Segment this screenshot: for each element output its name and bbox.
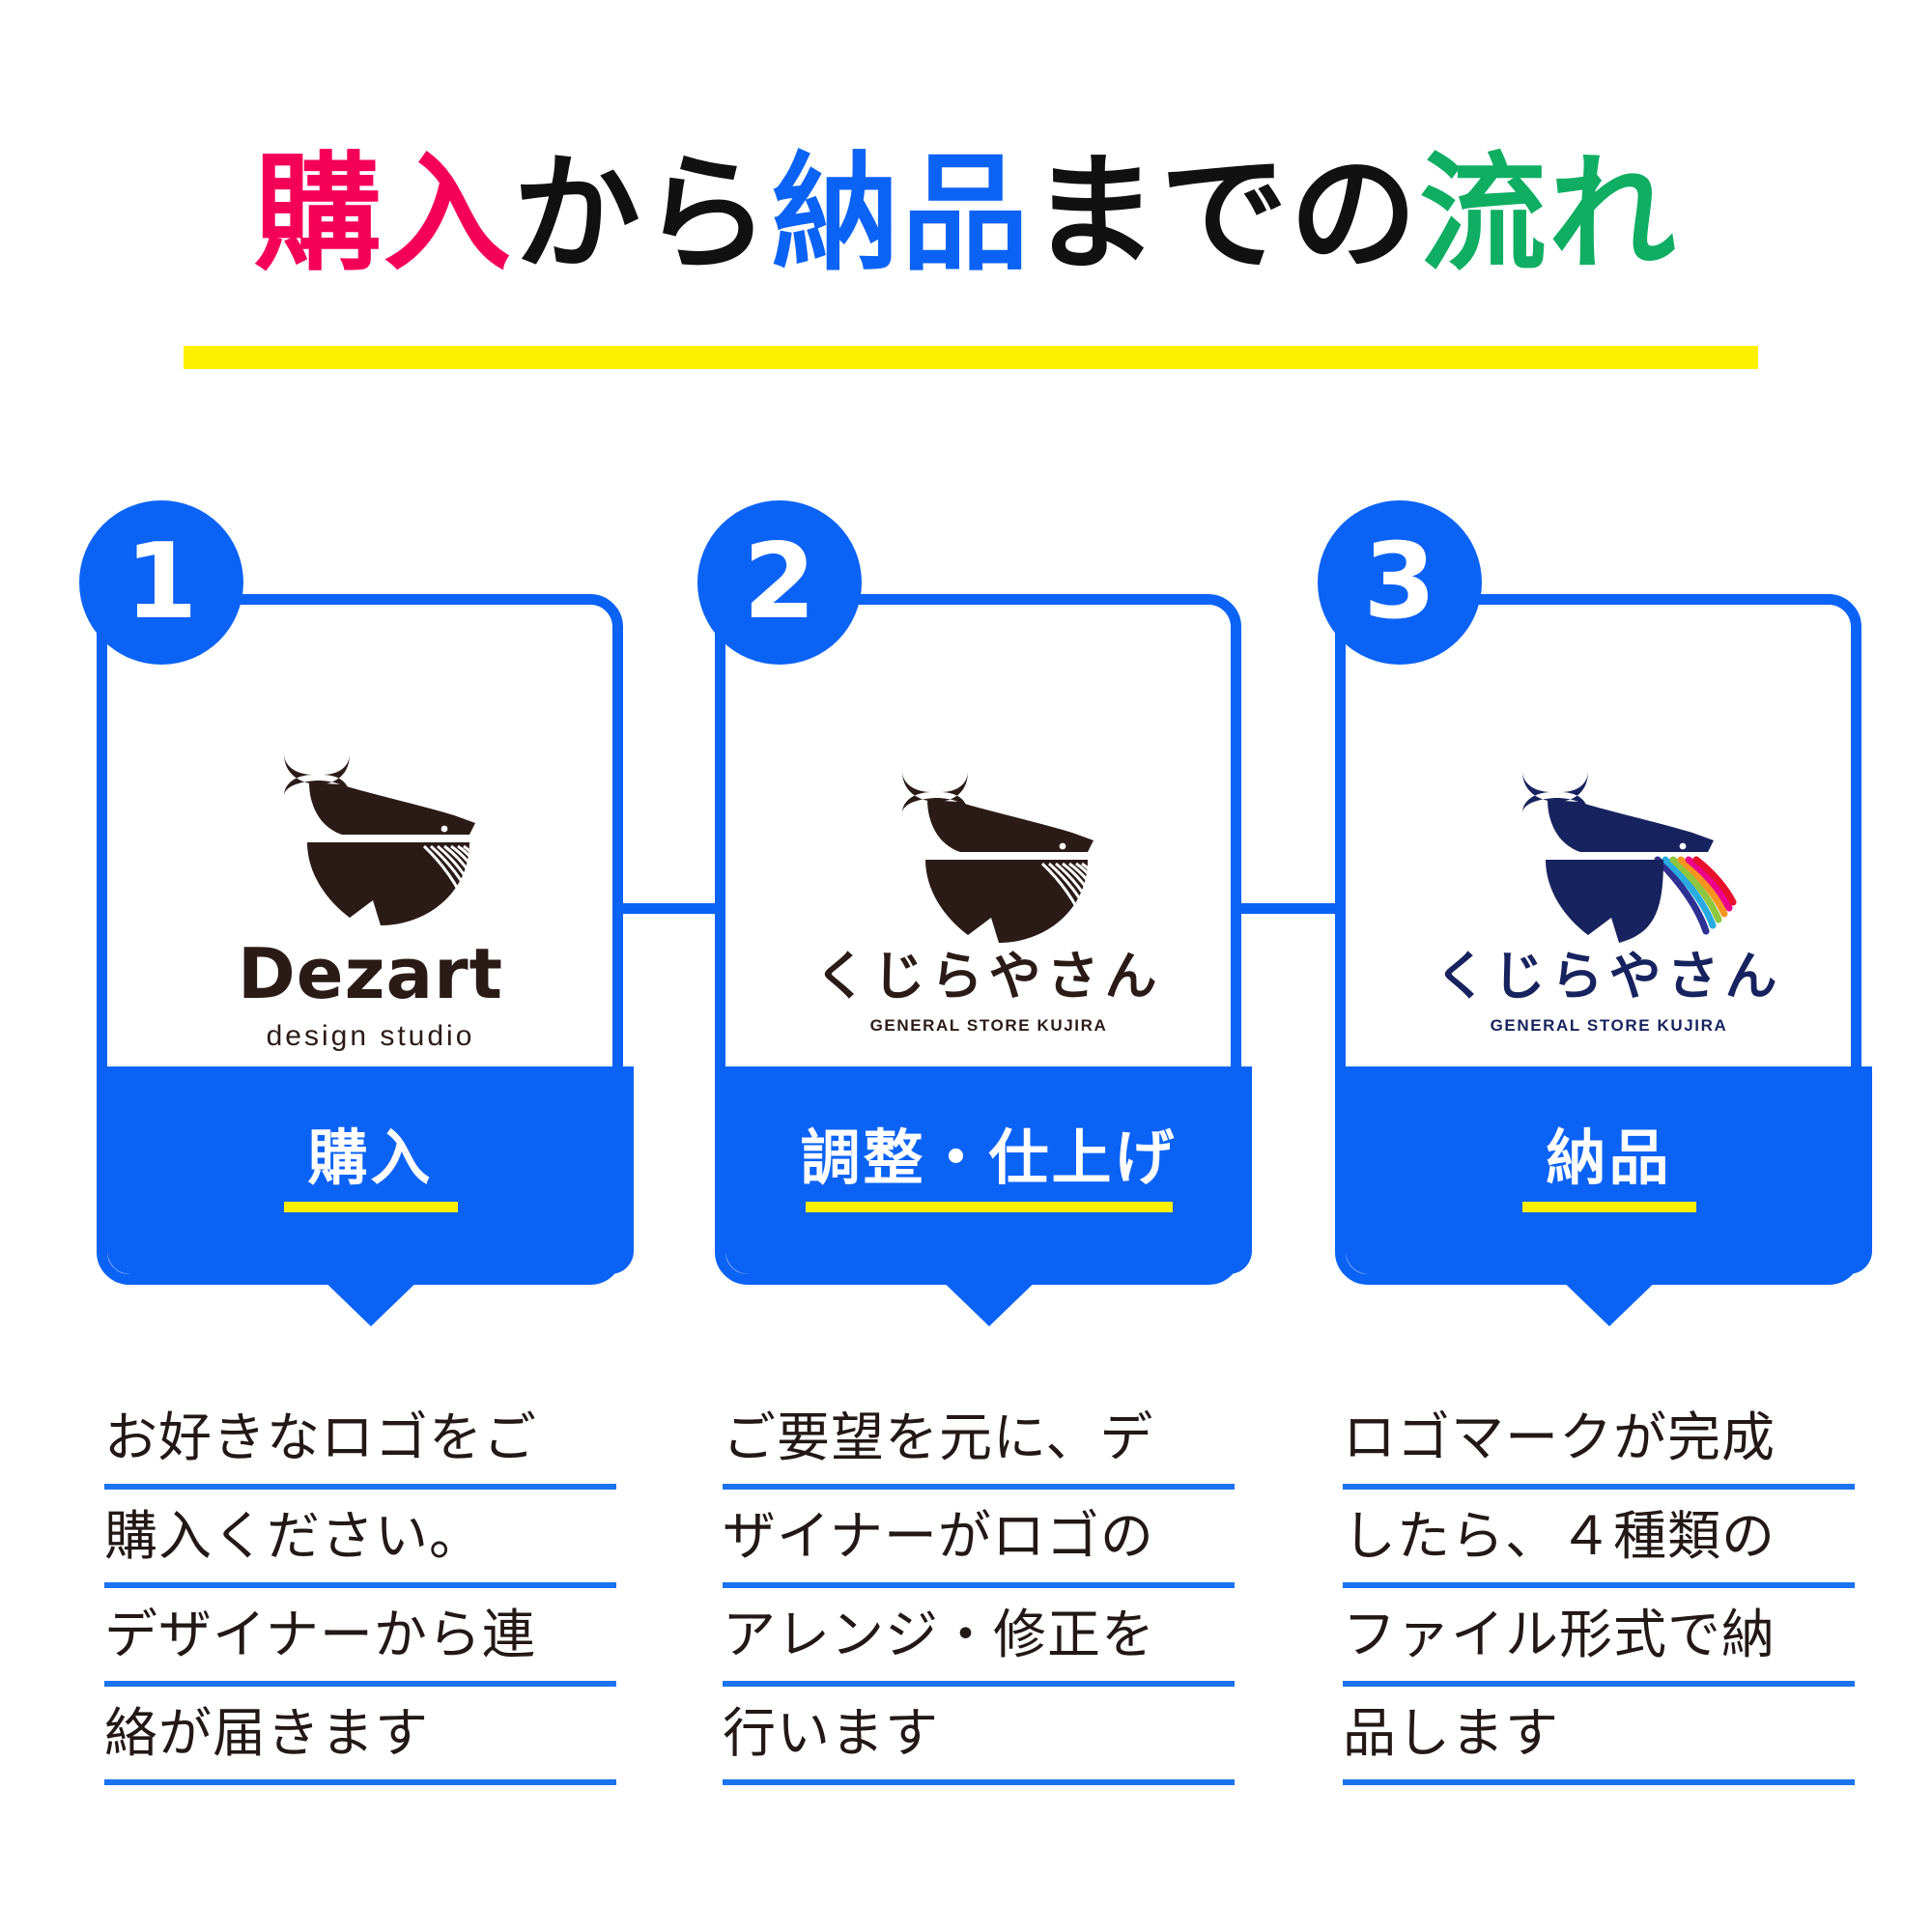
- dezart-wordmark: Dezart: [238, 939, 503, 1009]
- infographic-root: 購入から納品までの流れ: [0, 0, 1932, 1932]
- kujiraya-subtitle-color: GENERAL STORE KUJIRA: [1491, 1016, 1728, 1036]
- description-line: 品します: [1343, 1687, 1855, 1785]
- page-title-wrapper: 購入から納品までの流れ: [0, 145, 1932, 285]
- kujiraya-color-whale-icon: [1464, 763, 1754, 947]
- step-card-3-frame: くじらやさん GENERAL STORE KUJIRA 納品: [1335, 594, 1861, 1285]
- title-underline-bar: [184, 346, 1758, 369]
- step-3-number-badge: 3: [1318, 500, 1482, 665]
- kujiraya-subtitle-mono: GENERAL STORE KUJIRA: [870, 1016, 1108, 1036]
- description-line: 購入ください。: [104, 1490, 616, 1588]
- description-line: デザイナーから連: [104, 1588, 616, 1687]
- description-line: したら、４種類の: [1343, 1490, 1855, 1588]
- dezart-tagline: design studio: [267, 1020, 475, 1053]
- step-3-pointer-arrow: [1553, 1272, 1665, 1326]
- kujiraya-kana-color: くじらやさん: [1435, 951, 1783, 1003]
- step-2-number: 2: [743, 530, 815, 635]
- step-1-number-badge: 1: [79, 500, 243, 665]
- description-text: ザイナーがロゴの: [723, 1510, 1154, 1563]
- description-line: ザイナーがロゴの: [723, 1490, 1235, 1588]
- description-text: 絡が届きます: [104, 1707, 429, 1760]
- title-segment-4: までの: [1031, 140, 1419, 289]
- description-line: 行います: [723, 1687, 1235, 1785]
- step-card-1-frame: Dezart design studio 購入: [97, 594, 623, 1285]
- description-text: アレンジ・修正を: [723, 1608, 1155, 1662]
- step-1-pointer-arrow: [315, 1272, 427, 1326]
- description-text: 行います: [723, 1707, 939, 1760]
- description-text: ご要望を元に、デ: [723, 1411, 1153, 1464]
- step-1-description: お好きなロゴをご 購入ください。 デザイナーから連 絡が届きます: [104, 1391, 616, 1785]
- title-segment-3: 納品: [772, 140, 1031, 289]
- description-text: 品します: [1343, 1707, 1559, 1760]
- step-2-label-underline: [806, 1202, 1173, 1212]
- description-text: デザイナーから連: [104, 1608, 536, 1662]
- description-line: 絡が届きます: [104, 1687, 616, 1785]
- description-line: お好きなロゴをご: [104, 1391, 616, 1490]
- description-text: お好きなロゴをご: [104, 1411, 537, 1464]
- step-3-label-underline: [1522, 1202, 1696, 1212]
- title-segment-2: から: [513, 140, 772, 289]
- step-3-number: 3: [1363, 530, 1435, 635]
- step-card-1[interactable]: Dezart design studio 購入 1: [97, 541, 623, 1285]
- step-2-number-badge: 2: [697, 500, 862, 665]
- step-3-description: ロゴマークが完成 したら、４種類の ファイル形式で納 品します: [1343, 1391, 1855, 1785]
- description-line: ファイル形式で納: [1343, 1588, 1855, 1687]
- step-2-label: 調整・仕上げ: [800, 1128, 1177, 1188]
- step-1-label-underline: [284, 1202, 458, 1212]
- steps-row: Dezart design studio 購入 1: [0, 541, 1932, 1352]
- description-text: したら、４種類の: [1343, 1510, 1776, 1563]
- step-1-label: 購入: [307, 1128, 433, 1188]
- kujiraya-kana-mono: くじらやさん: [815, 951, 1163, 1003]
- title-segment-1: 購入: [254, 140, 513, 289]
- step-1-number: 1: [125, 530, 197, 635]
- description-text: 購入ください。: [104, 1510, 483, 1563]
- title-segment-5: 流れ: [1419, 140, 1678, 289]
- kujiraya-mono-whale-icon: [844, 763, 1134, 947]
- step-2-pointer-arrow: [933, 1272, 1045, 1326]
- dezart-whale-icon: [226, 746, 516, 929]
- description-line: アレンジ・修正を: [723, 1588, 1235, 1687]
- description-line: ご要望を元に、デ: [723, 1391, 1235, 1490]
- description-line: ロゴマークが完成: [1343, 1391, 1855, 1490]
- step-card-2[interactable]: くじらやさん GENERAL STORE KUJIRA 調整・仕上げ 2: [715, 541, 1241, 1285]
- page-title: 購入から納品までの流れ: [0, 145, 1932, 285]
- description-text: ロゴマークが完成: [1343, 1411, 1776, 1464]
- step-card-1-band: 購入: [107, 1066, 634, 1274]
- step-card-2-band: 調整・仕上げ: [725, 1066, 1252, 1274]
- step-card-3[interactable]: くじらやさん GENERAL STORE KUJIRA 納品 3: [1335, 541, 1861, 1285]
- step-card-2-frame: くじらやさん GENERAL STORE KUJIRA 調整・仕上げ: [715, 594, 1241, 1285]
- step-card-3-band: 納品: [1346, 1066, 1872, 1274]
- description-text: ファイル形式で納: [1343, 1608, 1776, 1662]
- step-2-description: ご要望を元に、デ ザイナーがロゴの アレンジ・修正を 行います: [723, 1391, 1235, 1785]
- step-3-label: 納品: [1546, 1128, 1671, 1188]
